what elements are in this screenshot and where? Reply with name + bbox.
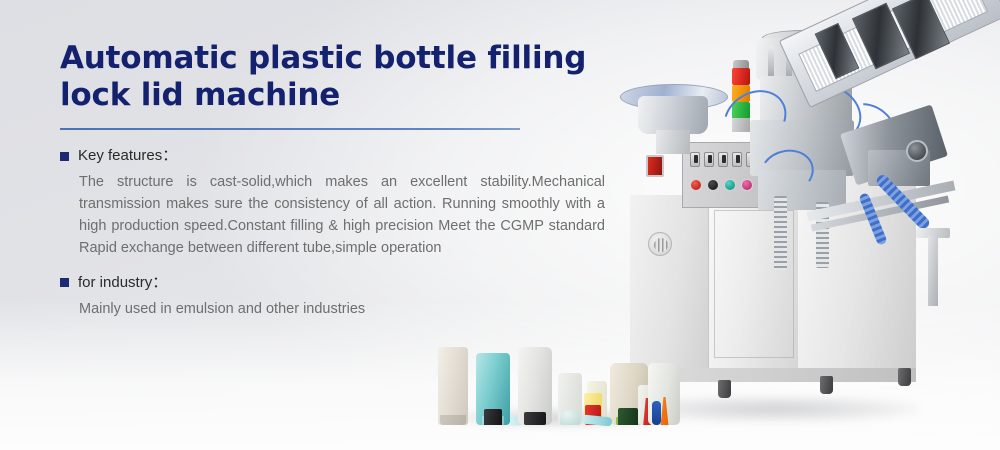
section-body-text: Mainly used in emulsion and other indust… xyxy=(79,298,605,320)
bellows-spring-icon xyxy=(774,196,787,270)
machine-foot-icon xyxy=(820,376,833,394)
rotary-bowl-feeder-body xyxy=(638,96,708,134)
section-heading: for industry： xyxy=(60,273,605,293)
section-heading: Key features： xyxy=(60,146,605,166)
push-button-teal-icon xyxy=(724,179,736,191)
panel-switch-row xyxy=(690,152,756,167)
toggle-switch-icon xyxy=(704,152,714,167)
section-heading-label: for industry： xyxy=(78,273,167,293)
page-title: Automatic plastic bottle filling lock li… xyxy=(60,40,605,114)
section-heading-label: Key features： xyxy=(78,146,177,166)
square-bullet-icon xyxy=(60,152,69,161)
feature-section-key-features: Key features： The structure is cast-soli… xyxy=(60,146,605,259)
push-button-red-icon xyxy=(690,179,702,191)
bowl-feeder-pedestal xyxy=(656,130,690,154)
product-banner: Automatic plastic bottle filling lock li… xyxy=(0,0,1000,450)
title-line-1: Automatic plastic bottle filling xyxy=(60,40,586,76)
section-body-text: The structure is cast-solid,which makes … xyxy=(79,171,605,259)
bottle-beige-cap xyxy=(618,408,638,425)
bottle-jug-blue-label xyxy=(652,401,661,425)
bottle-cream-tube xyxy=(438,347,468,425)
toggle-switch-icon xyxy=(732,152,742,167)
push-button-black-icon xyxy=(707,179,719,191)
toggle-switch-icon xyxy=(718,152,728,167)
feature-section-for-industry: for industry： Mainly used in emulsion an… xyxy=(60,273,605,320)
title-divider xyxy=(60,128,520,130)
machine-foot-icon xyxy=(898,368,911,386)
side-stand-leg xyxy=(928,236,938,306)
bottle-teal-cap xyxy=(484,409,502,425)
square-bullet-icon xyxy=(60,278,69,287)
cooling-fan-vent-icon xyxy=(648,232,672,256)
push-button-pink-icon xyxy=(741,179,753,191)
drive-roller-icon xyxy=(906,140,928,162)
text-column: Automatic plastic bottle filling lock li… xyxy=(60,40,605,320)
bottle-small-round-top xyxy=(560,409,580,425)
emergency-stop-switch xyxy=(646,155,664,177)
bottle-frosted-cap xyxy=(524,412,546,425)
turret-column xyxy=(768,46,774,76)
title-line-2: lock lid machine xyxy=(60,77,340,113)
toggle-switch-icon xyxy=(690,152,700,167)
stack-light-red-icon xyxy=(732,68,750,85)
machine-foot-icon xyxy=(718,380,731,398)
